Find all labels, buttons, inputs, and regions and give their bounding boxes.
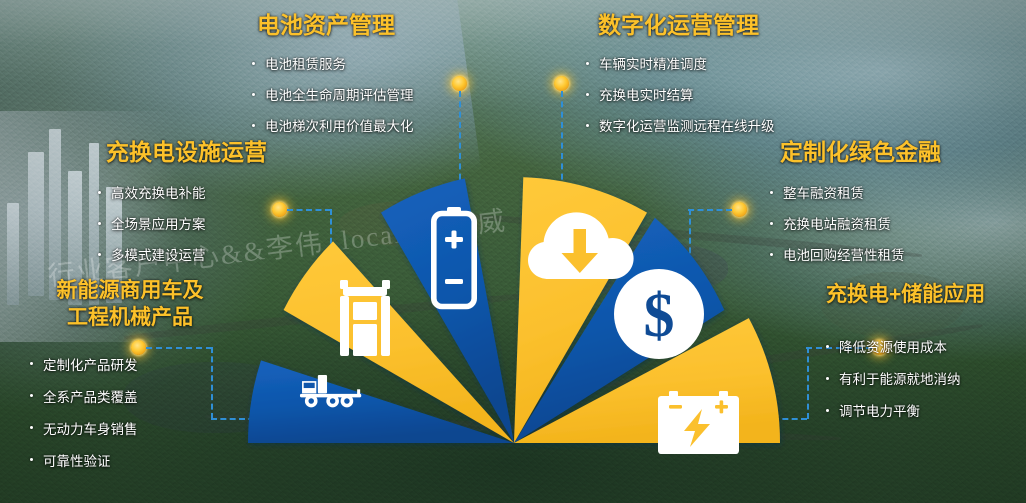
list-item: 全场景应用方案 xyxy=(98,213,267,233)
dollar-circle-icon: $ xyxy=(614,269,704,359)
block-list-vehicle: 定制化产品研发 全系产品类覆盖 无动力车身销售 可靠性验证 xyxy=(30,354,230,470)
block-list-finance: 整车融资租赁 充换电站融资租赁 电池回购经营性租赁 xyxy=(770,182,941,264)
block-new-energy-commercial-vehicle: 新能源商用车及 工程机械产品 定制化产品研发 全系产品类覆盖 无动力车身销售 可… xyxy=(30,278,230,482)
block-title-facility: 充换电设施运营 xyxy=(106,133,267,167)
list-item: 降低资源使用成本 xyxy=(826,336,985,356)
block-title-vehicle: 新能源商用车及 工程机械产品 xyxy=(30,278,230,332)
connector-line-storage-v xyxy=(807,347,809,419)
block-title-storage: 充换电+储能应用 xyxy=(826,278,985,308)
list-item: 全系产品类覆盖 xyxy=(30,386,230,406)
list-item: 高效充换电补能 xyxy=(98,182,267,202)
list-item: 有利于能源就地消纳 xyxy=(826,368,985,388)
block-list-storage: 降低资源使用成本 有利于能源就地消纳 调节电力平衡 xyxy=(826,336,985,420)
block-title-vehicle-line1: 新能源商用车及 xyxy=(30,278,230,305)
list-item: 数字化运营监测远程在线升级 xyxy=(586,115,775,135)
block-digital-operation-management: 数字化运营管理 车辆实时精准调度 充换电实时结算 数字化运营监测远程在线升级 xyxy=(586,6,775,146)
block-title-battery: 电池资产管理 xyxy=(257,6,414,40)
fan-diagram: $ xyxy=(228,160,800,503)
car-battery-bolt-icon xyxy=(658,391,739,454)
block-customized-green-finance: 定制化绿色金融 整车融资租赁 充换电站融资租赁 电池回购经营性租赁 xyxy=(770,133,941,275)
block-list-facility: 高效充换电补能 全场景应用方案 多模式建设运营 xyxy=(98,182,267,264)
list-item: 电池全生命周期评估管理 xyxy=(252,84,414,104)
list-item: 多模式建设运营 xyxy=(98,244,267,264)
list-item: 调节电力平衡 xyxy=(826,400,985,420)
charging-gantry-icon xyxy=(340,280,390,356)
list-item: 充换电站融资租赁 xyxy=(770,213,941,233)
list-item: 整车融资租赁 xyxy=(770,182,941,202)
list-item: 车辆实时精准调度 xyxy=(586,53,775,73)
list-item: 无动力车身销售 xyxy=(30,418,230,438)
list-item: 电池梯次利用价值最大化 xyxy=(252,115,414,135)
list-item: 可靠性验证 xyxy=(30,450,230,470)
block-title-digital: 数字化运营管理 xyxy=(598,6,775,40)
list-item: 电池租赁服务 xyxy=(252,53,414,73)
block-charging-swap-energy-storage: 充换电+储能应用 降低资源使用成本 有利于能源就地消纳 调节电力平衡 xyxy=(826,278,985,432)
block-list-digital: 车辆实时精准调度 充换电实时结算 数字化运营监测远程在线升级 xyxy=(586,53,775,135)
infographic-canvas: 行业客户中心&&李伟. local&&刘威 xyxy=(0,0,1026,503)
connector-dot-battery xyxy=(452,76,467,91)
block-charging-swap-facility-operation: 充换电设施运营 高效充换电补能 全场景应用方案 多模式建设运营 xyxy=(98,133,267,275)
svg-text:$: $ xyxy=(644,282,675,350)
connector-dot-digital xyxy=(554,76,569,91)
block-title-finance: 定制化绿色金融 xyxy=(780,133,941,167)
list-item: 充换电实时结算 xyxy=(586,84,775,104)
list-item: 定制化产品研发 xyxy=(30,354,230,374)
block-list-battery: 电池租赁服务 电池全生命周期评估管理 电池梯次利用价值最大化 xyxy=(252,53,414,135)
list-item: 电池回购经营性租赁 xyxy=(770,244,941,264)
block-title-vehicle-line2: 工程机械产品 xyxy=(30,305,230,332)
block-battery-asset-management: 电池资产管理 电池租赁服务 电池全生命周期评估管理 电池梯次利用价值最大化 xyxy=(252,6,414,146)
